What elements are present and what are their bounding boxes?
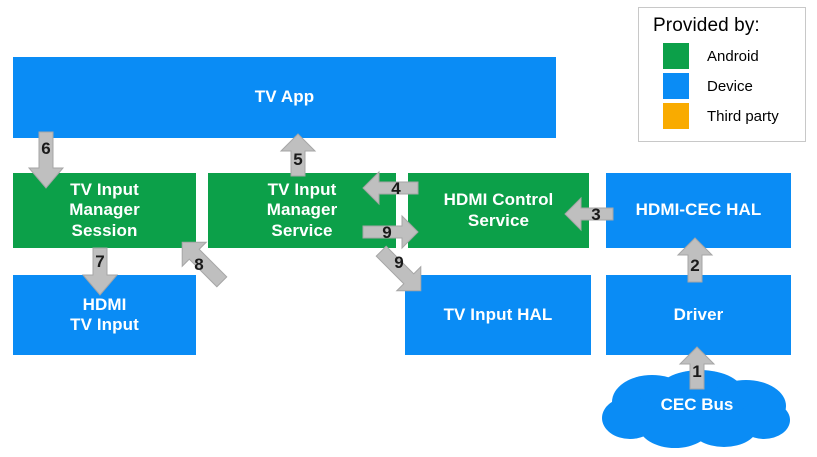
arrow-9-to-tv-input-hal: 9	[370, 240, 432, 302]
legend-title: Provided by:	[653, 15, 805, 37]
box-tv-input-hal-label: TV Input HAL	[444, 305, 553, 325]
arrow-1: 1	[680, 347, 714, 389]
arrow-3-number: 3	[585, 206, 607, 223]
box-hdmi-tv-input-label: HDMI TV Input	[70, 295, 139, 335]
arrow-6: 6	[29, 132, 63, 188]
arrow-5: 5	[281, 134, 315, 176]
arrow-2-number: 2	[684, 257, 706, 274]
arrow-8: 8	[172, 232, 232, 292]
arrow-2: 2	[678, 238, 712, 282]
legend-swatch-device-icon	[663, 73, 689, 99]
arrow-9a-number: 9	[376, 224, 398, 241]
legend-item-android: Android	[653, 42, 805, 70]
legend-item-device: Device	[653, 72, 805, 100]
box-hdmi-control-service-label: HDMI Control Service	[444, 190, 554, 230]
arrow-9b-number: 9	[388, 254, 410, 271]
box-tv-input-manager-service-label: TV Input Manager Service	[267, 180, 338, 240]
legend-label-android: Android	[707, 48, 759, 65]
arrow-5-number: 5	[287, 151, 309, 168]
legend-swatch-third-party-icon	[663, 103, 689, 129]
arrow-7-number: 7	[89, 253, 111, 270]
box-tv-app: TV App	[13, 57, 556, 138]
box-tv-input-manager-session-label: TV Input Manager Session	[69, 180, 140, 240]
box-hdmi-cec-hal: HDMI-CEC HAL	[606, 173, 791, 248]
box-hdmi-cec-hal-label: HDMI-CEC HAL	[636, 200, 762, 220]
arrow-8-number: 8	[188, 256, 210, 273]
box-tv-app-label: TV App	[255, 87, 314, 107]
legend-panel: Provided by: Android Device Third party	[638, 7, 806, 142]
arrow-4: 4	[363, 172, 418, 204]
box-hdmi-control-service: HDMI Control Service	[408, 173, 589, 248]
box-driver-label: Driver	[674, 305, 724, 325]
arrow-3: 3	[565, 198, 613, 230]
legend-swatch-android-icon	[663, 43, 689, 69]
legend-label-third-party: Third party	[707, 108, 779, 125]
box-driver: Driver	[606, 275, 791, 355]
arrow-4-number: 4	[385, 180, 407, 197]
architecture-diagram: TV App TV Input Manager Session TV Input…	[0, 0, 817, 457]
cloud-cec-bus-label: CEC Bus	[600, 395, 794, 415]
legend-item-third-party: Third party	[653, 102, 805, 130]
legend-label-device: Device	[707, 78, 753, 95]
arrow-7: 7	[83, 248, 117, 295]
arrow-1-number: 1	[686, 363, 708, 380]
box-tv-input-hal: TV Input HAL	[405, 275, 591, 355]
arrow-6-number: 6	[35, 140, 57, 157]
